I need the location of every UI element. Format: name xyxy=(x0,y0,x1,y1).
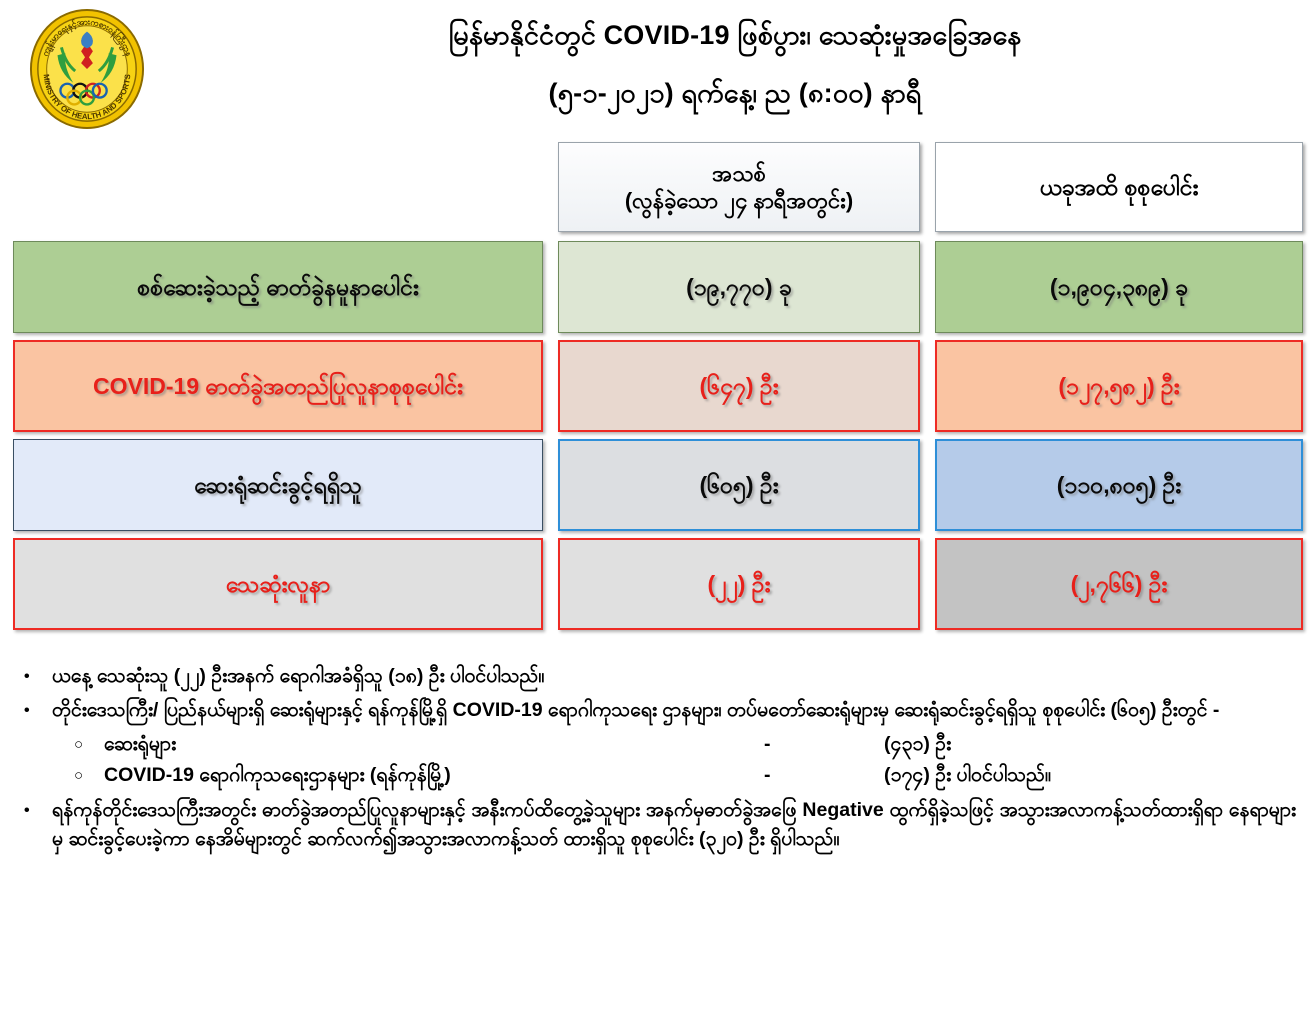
row-new-deaths: (၂၂) ဦး xyxy=(558,538,920,630)
sub-note-label-2: COVID-19 ရောဂါကုသရေးဌာနများ (ရန်ကုန်မြို… xyxy=(104,761,764,790)
sub-note-item-2: ○ COVID-19 ရောဂါကုသရေးဌာနများ (ရန်ကုန်မြ… xyxy=(74,761,1296,790)
row-label-discharged: ဆေးရုံဆင်းခွင့်ရရှိသူ xyxy=(13,439,543,531)
ministry-of-health-and-sports-seal-icon: ကျန်းမာရေးနှင့်အားကစားဝန်ကြီးဌာန MINISTR… xyxy=(28,8,146,130)
page-title-line-1: မြန်မာနိုင်ငံတွင် COVID-19 ဖြစ်ပွား၊ သေဆ… xyxy=(170,6,1300,64)
table-row-discharged: ဆေးရုံဆင်းခွင့်ရရှိသူ (၆၀၅) ဦး (၁၁၀,၈၀၅)… xyxy=(0,439,1310,531)
hollow-bullet-icon: ○ xyxy=(74,730,104,759)
column-header-total: ယခုအထိ စုစုပေါင်း xyxy=(935,142,1303,232)
table-header-row: အသစ် (လွန်ခဲ့သော ၂၄ နာရီအတွင်း) ယခုအထိ စ… xyxy=(0,142,1310,234)
table-row-confirmed-cases: COVID-19 ဓာတ်ခွဲအတည်ပြုလူနာစုစုပေါင်း (၆… xyxy=(0,340,1310,432)
column-header-new-line2: (လွန်ခဲ့သော ၂၄ နာရီအတွင်း) xyxy=(625,187,853,215)
table-row-samples-tested: စစ်ဆေးခဲ့သည့် ဓာတ်ခွဲနမူနာပေါင်း (၁၉,၇၇၀… xyxy=(0,241,1310,333)
page-header: ကျန်းမာရေးနှင့်အားကစားဝန်ကြီးဌာန MINISTR… xyxy=(0,0,1310,140)
sub-note-dash-2: - xyxy=(764,761,884,790)
page-title-line-2: (၅-၁-၂၀၂၁) ရက်နေ့၊ ည (၈:၀၀) နာရီ xyxy=(170,64,1300,122)
notes-section: • ယနေ့ သေဆုံးသူ (၂၂) ဦးအနက် ရောဂါအခံရှိသ… xyxy=(0,662,1310,859)
row-new-discharged: (၆၀၅) ဦး xyxy=(558,439,920,531)
note-text-1: ယနေ့ သေဆုံးသူ (၂၂) ဦးအနက် ရောဂါအခံရှိသူ … xyxy=(52,662,1296,691)
column-header-new: အသစ် (လွန်ခဲ့သော ၂၄ နာရီအတွင်း) xyxy=(558,142,920,232)
note-item-1: • ယနေ့ သေဆုံးသူ (၂၂) ဦးအနက် ရောဂါအခံရှိသ… xyxy=(18,662,1296,691)
sub-note-value-1: (၄၃၁) ဦး xyxy=(884,730,1296,759)
note-item-3: • ရန်ကုန်တိုင်းဒေသကြီးအတွင်း ဓာတ်ခွဲအတည်… xyxy=(18,796,1296,854)
note-item-2: • တိုင်းဒေသကြီး/ ပြည်နယ်များရှိ ဆေးရုံမျ… xyxy=(18,696,1296,725)
row-total-discharged: (၁၁၀,၈၀၅) ဦး xyxy=(935,439,1303,531)
row-total-confirmed-cases: (၁၂၇,၅၈၂) ဦး xyxy=(935,340,1303,432)
table-row-deaths: သေဆုံးလူနာ (၂၂) ဦး (၂,၇၆၆) ဦး xyxy=(0,538,1310,630)
sub-note-value-2: (၁၇၄) ဦး ပါဝင်ပါသည်။ xyxy=(884,761,1296,790)
sub-note-item-1: ○ ဆေးရုံများ - (၄၃၁) ဦး xyxy=(74,730,1296,759)
row-label-confirmed-cases: COVID-19 ဓာတ်ခွဲအတည်ပြုလူနာစုစုပေါင်း xyxy=(13,340,543,432)
row-new-samples-tested: (၁၉,၇၇၀) ခု xyxy=(558,241,920,333)
note-text-3: ရန်ကုန်တိုင်းဒေသကြီးအတွင်း ဓာတ်ခွဲအတည်ပြ… xyxy=(52,796,1296,854)
row-label-samples-tested: စစ်ဆေးခဲ့သည့် ဓာတ်ခွဲနမူနာပေါင်း xyxy=(13,241,543,333)
bullet-icon: • xyxy=(18,796,52,825)
bullet-icon: • xyxy=(18,662,52,691)
page-title-block: မြန်မာနိုင်ငံတွင် COVID-19 ဖြစ်ပွား၊ သေဆ… xyxy=(170,6,1300,122)
column-header-new-line1: အသစ် xyxy=(625,160,853,188)
row-total-samples-tested: (၁,၉၀၄,၃၈၉) ခု xyxy=(935,241,1303,333)
row-total-deaths: (၂,၇၆၆) ဦး xyxy=(935,538,1303,630)
bullet-icon: • xyxy=(18,696,52,725)
sub-note-dash-1: - xyxy=(764,730,884,759)
covid-summary-table: အသစ် (လွန်ခဲ့သော ၂၄ နာရီအတွင်း) ယခုအထိ စ… xyxy=(0,142,1310,637)
sub-note-label-1: ဆေးရုံများ xyxy=(104,730,764,759)
note-text-2: တိုင်းဒေသကြီး/ ပြည်နယ်များရှိ ဆေးရုံများ… xyxy=(52,696,1296,725)
row-label-deaths: သေဆုံးလူနာ xyxy=(13,538,543,630)
hollow-bullet-icon: ○ xyxy=(74,761,104,790)
report-page: ကျန်းမာရေးနှင့်အားကစားဝန်ကြီးဌာန MINISTR… xyxy=(0,0,1310,1028)
row-new-confirmed-cases: (၆၄၇) ဦး xyxy=(558,340,920,432)
